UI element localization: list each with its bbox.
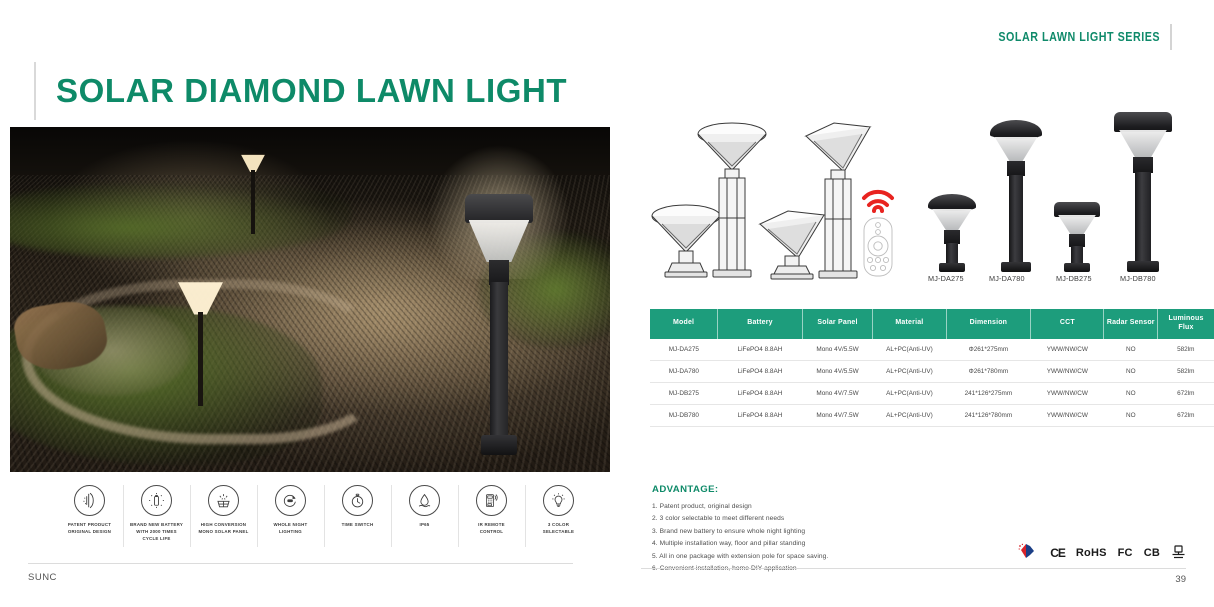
patent-design-icon [74, 485, 105, 516]
advantage-item: 6. Convenient installation, home DIY app… [652, 563, 992, 575]
advantage-title: ADVANTAGE: [652, 484, 992, 495]
lamp-base [1001, 262, 1030, 272]
cell-solar-panel: Mono 4V/7.5W [802, 404, 873, 426]
column-header: Model [650, 309, 718, 339]
fc-mark-icon: FC [1118, 547, 1133, 559]
lamp-base [939, 263, 966, 272]
cell-battery: LiFePO4 8.8AH [718, 360, 803, 382]
waterproof-icon [409, 485, 440, 516]
line-drawing-square-short [760, 211, 824, 279]
cell-model: MJ-DA275 [650, 339, 718, 361]
product-render [1114, 112, 1172, 272]
cell-dimension: Φ261*780mm [946, 360, 1031, 382]
feature-item: 3 COLOR SELECTABLE [525, 483, 592, 551]
cell-battery: LiFePO4 8.8AH [718, 339, 803, 361]
feature-label: WHOLE NIGHT LIGHTING [274, 522, 308, 536]
hero-photo [10, 127, 610, 472]
lamp-pole [490, 282, 507, 435]
feature-label: PATENT PRODUCT ORIGINAL DESIGN [68, 522, 111, 536]
cell-solar-panel: Mono 4V/5.5W [802, 360, 873, 382]
remote-control-drawing [856, 180, 900, 280]
table-row: MJ-DB275 LiFePO4 8.8AH Mono 4V/7.5W AL+P… [650, 382, 1214, 404]
cell-material: AL+PC(Anti-UV) [873, 382, 946, 404]
cell-radar-sensor: NO [1104, 382, 1158, 404]
lamp-pole [1009, 175, 1023, 263]
cell-cct: YWW/NW/CW [1031, 360, 1104, 382]
model-label: MJ-DB275 [1056, 274, 1092, 283]
column-header: CCT [1031, 309, 1104, 339]
cell-model: MJ-DA780 [650, 360, 718, 382]
cell-dimension: Φ261*275mm [946, 339, 1031, 361]
feature-label: 3 COLOR SELECTABLE [543, 522, 574, 536]
feature-item: BRAND NEW BATTERY WITH 2000 TIMES CYCLE … [123, 483, 190, 551]
cell-material: AL+PC(Anti-UV) [873, 339, 946, 361]
lamp-background [241, 155, 265, 234]
cell-model: MJ-DB780 [650, 404, 718, 426]
color-bulb-icon [543, 485, 574, 516]
cell-cct: YWW/NW/CW [1031, 339, 1104, 361]
lamp-pole [251, 170, 254, 233]
feature-label: IP65 [419, 522, 429, 529]
advantage-item: 4. Multiple installation way, floor and … [652, 538, 992, 550]
table-row: MJ-DB780 LiFePO4 8.8AH Mono 4V/7.5W AL+P… [650, 404, 1214, 426]
cell-luminous-flux: 672lm [1158, 404, 1214, 426]
battery-cycle-icon [141, 485, 172, 516]
cell-model: MJ-DB275 [650, 382, 718, 404]
feature-label: TIME SWITCH [342, 522, 374, 529]
feature-item: IP65 [391, 483, 458, 551]
lamp-base [1064, 263, 1090, 272]
model-label: MJ-DB780 [1120, 274, 1156, 283]
column-header: Material [873, 309, 946, 339]
column-header: Dimension [946, 309, 1031, 339]
advantage-item: 1. Patent product, original design [652, 501, 992, 513]
page-title: SOLAR DIAMOND LAWN LIGHT [56, 72, 567, 110]
lamp-midground [178, 282, 223, 406]
certification-row: CE RoHS FC CB [1017, 542, 1186, 564]
brand-name: SUNC [28, 572, 57, 583]
table-row: MJ-DA275 LiFePO4 8.8AH Mono 4V/5.5W AL+P… [650, 339, 1214, 361]
cell-luminous-flux: 582lm [1158, 360, 1214, 382]
column-header: Solar Panel [802, 309, 873, 339]
patent-logo-icon [1017, 542, 1039, 565]
product-render-row [928, 112, 1214, 272]
cell-dimension: 241*126*780mm [946, 404, 1031, 426]
table-row: MJ-DA780 LiFePO4 8.8AH Mono 4V/5.5W AL+P… [650, 360, 1214, 382]
cell-battery: LiFePO4 8.8AH [718, 404, 803, 426]
lamp-neck [944, 230, 960, 244]
lamp-head [178, 282, 223, 314]
solar-cap [1114, 112, 1172, 132]
model-label: MJ-DA780 [989, 274, 1025, 283]
solar-cap [990, 120, 1042, 139]
cell-radar-sensor: NO [1104, 404, 1158, 426]
ir-signal-icon [864, 192, 892, 205]
line-drawing-round-tall [698, 123, 766, 277]
solar-panel-top [465, 194, 534, 222]
timer-icon [342, 485, 373, 516]
cell-solar-panel: Mono 4V/7.5W [802, 382, 873, 404]
column-header: Battery [718, 309, 803, 339]
lens-diffuser [995, 137, 1038, 162]
cell-material: AL+PC(Anti-UV) [873, 360, 946, 382]
product-render [1054, 202, 1100, 272]
ce-mark-icon: CE [1050, 546, 1065, 560]
feature-label: HIGH CONVERSION MONO SOLAR PANEL [198, 522, 248, 536]
cell-radar-sensor: NO [1104, 339, 1158, 361]
lens-diffuser [1119, 130, 1167, 158]
cell-dimension: 241*126*275mm [946, 382, 1031, 404]
model-label: MJ-DA275 [928, 274, 964, 283]
feature-label: IR REMOTE CONTROL [478, 522, 505, 536]
product-model-labels: MJ-DA275 MJ-DA780 MJ-DB275 MJ-DB780 [928, 274, 1214, 288]
advantage-item: 5. All in one package with extension pol… [652, 551, 992, 563]
page-header: SOLAR LAWN LIGHT SERIES [0, 0, 1214, 62]
lamp-pole [946, 243, 958, 263]
left-footer-divider [28, 563, 573, 564]
column-header: Luminous Flux [1158, 309, 1214, 339]
page-number: 39 [1175, 574, 1186, 585]
page-title-block: SOLAR DIAMOND LAWN LIGHT [34, 62, 567, 120]
lamp-foreground [460, 172, 538, 455]
solar-panel-icon [208, 485, 239, 516]
cb-mark-icon: CB [1144, 547, 1160, 559]
lamp-pole [1135, 172, 1150, 262]
lamp-neck [1133, 157, 1153, 173]
cell-cct: YWW/NW/CW [1031, 404, 1104, 426]
line-drawing-round-short [652, 205, 720, 277]
column-header: Radar Sensor [1104, 309, 1158, 339]
title-accent-bar [34, 62, 36, 120]
advantage-section: ADVANTAGE: 1. Patent product, original d… [652, 484, 992, 575]
advantage-item: 3. Brand new battery to ensure whole nig… [652, 526, 992, 538]
lamp-pole [1071, 246, 1083, 263]
cell-solar-panel: Mono 4V/5.5W [802, 339, 873, 361]
lamp-base [481, 435, 517, 455]
feature-item: WHOLE NIGHT LIGHTING [257, 483, 324, 551]
solar-cap [928, 194, 976, 211]
feature-icon-row: PATENT PRODUCT ORIGINAL DESIGN BRAND NEW… [56, 483, 592, 551]
lens-diffuser [932, 209, 971, 231]
lamp-neck [489, 260, 509, 285]
feature-item: IR REMOTE CONTROL [458, 483, 525, 551]
feature-label: BRAND NEW BATTERY WITH 2000 TIMES CYCLE … [130, 522, 183, 542]
series-label: SOLAR LAWN LIGHT SERIES [998, 30, 1160, 44]
cell-cct: YWW/NW/CW [1031, 382, 1104, 404]
product-render [928, 194, 976, 272]
feature-item: HIGH CONVERSION MONO SOLAR PANEL [190, 483, 257, 551]
whole-night-icon [275, 485, 306, 516]
lens-diffuser [1058, 215, 1096, 235]
feature-item: TIME SWITCH [324, 483, 391, 551]
right-footer-divider [641, 568, 1186, 569]
weee-mark-icon [1171, 543, 1186, 564]
cell-luminous-flux: 672lm [1158, 382, 1214, 404]
header-divider [1170, 24, 1172, 50]
product-render [990, 120, 1042, 272]
remote-control-icon [476, 485, 507, 516]
lamp-pole [198, 312, 203, 406]
lamp-neck [1007, 161, 1025, 176]
cell-battery: LiFePO4 8.8AH [718, 382, 803, 404]
lamp-head [241, 155, 265, 172]
cell-material: AL+PC(Anti-UV) [873, 404, 946, 426]
feature-item: PATENT PRODUCT ORIGINAL DESIGN [56, 483, 123, 551]
lamp-base [1127, 261, 1159, 272]
solar-cap [1054, 202, 1100, 217]
cell-radar-sensor: NO [1104, 360, 1158, 382]
specification-table: Model Battery Solar Panel Material Dimen… [650, 309, 1214, 427]
cell-luminous-flux: 582lm [1158, 339, 1214, 361]
table-header-row: Model Battery Solar Panel Material Dimen… [650, 309, 1214, 339]
advantage-item: 2. 3 color selectable to meet different … [652, 513, 992, 525]
rohs-mark-icon: RoHS [1076, 547, 1107, 559]
